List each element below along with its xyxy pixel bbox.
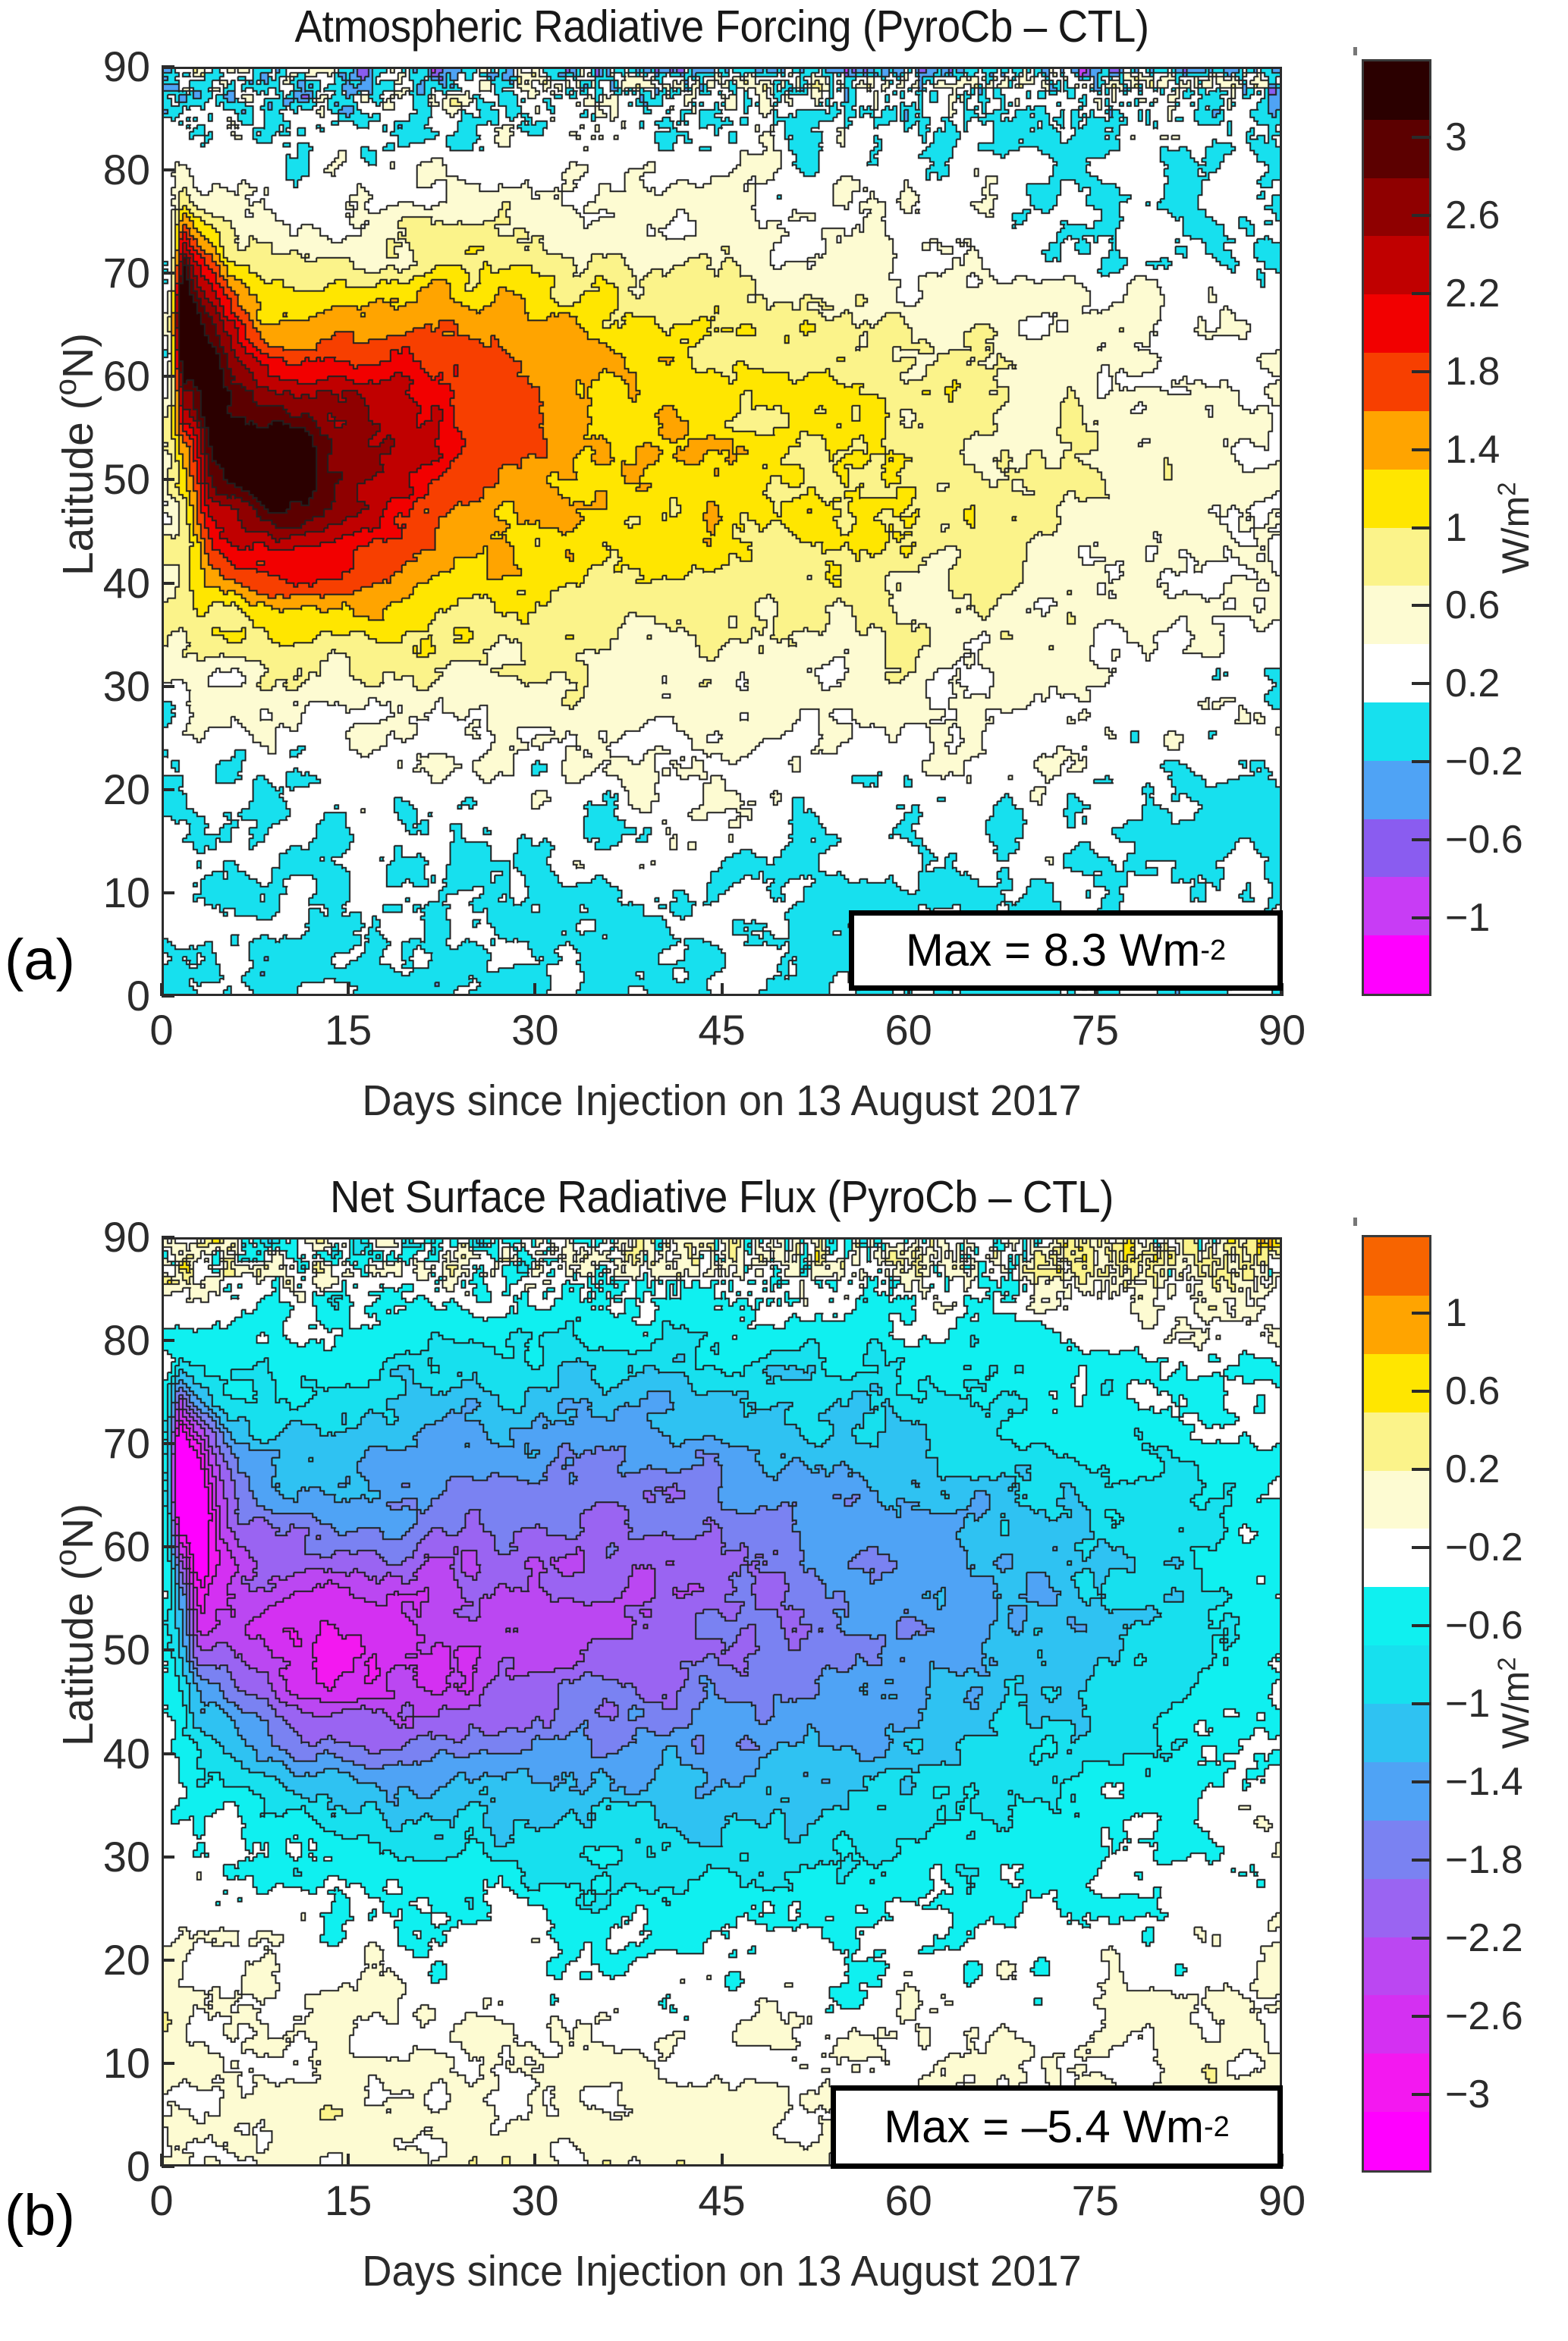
panel-b-colorbar-title: W/m2 (1496, 1589, 1535, 1817)
panel-a-colorbar-title: W/m2 (1496, 414, 1535, 642)
colorbar-tick-label: 1 (1445, 508, 1467, 548)
colorbar-segment (1364, 1645, 1429, 1704)
x-tick-label: 15 (288, 2179, 409, 2222)
y-tick-mark (162, 1442, 174, 1445)
colorbar-tick-mark (1412, 1859, 1431, 1862)
colorbar-segment (1364, 1587, 1429, 1645)
y-tick-mark (162, 478, 174, 481)
x-tick-mark (347, 2154, 350, 2167)
colorbar-segment (1364, 1471, 1429, 1529)
colorbar-segment (1364, 470, 1429, 528)
colorbar-tick-label: 2.6 (1445, 196, 1500, 235)
y-tick-mark (162, 1236, 174, 1239)
y-tick-mark (162, 1959, 174, 1962)
colorbar-segment (1364, 1529, 1429, 1587)
x-tick-mark (160, 983, 163, 996)
panel-a-field-canvas (164, 69, 1280, 994)
colorbar-segment (1364, 644, 1429, 702)
panel-a-colorbar-unit: W/m (1494, 496, 1537, 574)
colorbar-tick-label: 1.8 (1445, 352, 1500, 391)
colorbar-segment (1364, 1354, 1429, 1412)
colorbar-tick-label: 0.2 (1445, 664, 1500, 703)
colorbar-segment (1364, 935, 1429, 994)
y-tick-mark (162, 1648, 174, 1651)
panel-a-ylabel: Latitude (oN) (42, 219, 102, 690)
colorbar-tick-mark (1412, 1546, 1431, 1549)
x-tick-mark (347, 983, 350, 996)
colorbar-tick-mark (1412, 1937, 1431, 1940)
y-tick-mark (162, 1752, 174, 1755)
colorbar-tick-label: −0.6 (1445, 820, 1523, 859)
colorbar-tick-label: 0.6 (1445, 1372, 1500, 1411)
x-tick-label: 60 (848, 2179, 969, 2222)
colorbar-tick-mark (1412, 604, 1431, 607)
panel-b-field-canvas (164, 1240, 1280, 2164)
y-tick-mark (162, 891, 174, 894)
x-tick-label: 45 (661, 1009, 783, 1051)
colorbar-segment (1364, 294, 1429, 353)
y-tick-mark (162, 788, 174, 791)
panel-a-corner-marker (1353, 47, 1357, 55)
colorbar-segment (1364, 353, 1429, 411)
panel-a-max-annotation: Max = 8.3 Wm-2 (849, 910, 1283, 991)
colorbar-tick-mark (1412, 1312, 1431, 1315)
x-tick-mark (721, 2154, 724, 2167)
colorbar-tick-mark (1412, 1468, 1431, 1471)
x-tick-label: 30 (474, 1009, 595, 1051)
colorbar-tick-mark (1412, 1390, 1431, 1393)
y-tick-label: 80 (36, 1319, 150, 1362)
colorbar-tick-mark (1412, 1780, 1431, 1783)
y-tick-label: 90 (36, 46, 150, 88)
x-tick-mark (533, 2154, 536, 2167)
y-tick-mark (162, 65, 174, 68)
y-tick-label: 10 (36, 872, 150, 914)
colorbar-tick-mark (1412, 1702, 1431, 1705)
y-tick-label: 20 (36, 768, 150, 811)
panel-a-title: Atmospheric Radiative Forcing (PyroCb – … (201, 2, 1243, 52)
panel-a-max-text: Max = 8.3 Wm (906, 928, 1200, 973)
colorbar-tick-label: −0.2 (1445, 1528, 1523, 1567)
panel-a: Atmospheric Radiative Forcing (PyroCb – … (0, 0, 1568, 1170)
colorbar-tick-mark (1412, 916, 1431, 919)
colorbar-segment (1364, 1762, 1429, 1821)
x-tick-mark (160, 2154, 163, 2167)
colorbar-tick-mark (1412, 214, 1431, 217)
colorbar-tick-label: −3 (1445, 2075, 1490, 2114)
colorbar-segment (1364, 178, 1429, 237)
colorbar-segment (1364, 1704, 1429, 1762)
x-tick-label: 90 (1221, 1009, 1343, 1051)
y-tick-label: 90 (36, 1216, 150, 1258)
x-tick-label: 0 (101, 2179, 222, 2222)
colorbar-tick-mark (1412, 136, 1431, 139)
colorbar-segment (1364, 1995, 1429, 2053)
colorbar-segment (1364, 411, 1429, 470)
x-tick-mark (721, 983, 724, 996)
x-tick-label: 90 (1221, 2179, 1343, 2222)
y-tick-mark (162, 1545, 174, 1548)
colorbar-tick-label: −2.6 (1445, 1997, 1523, 2036)
panel-b-title: Net Surface Radiative Flux (PyroCb – CTL… (201, 1172, 1243, 1222)
colorbar-segment (1364, 586, 1429, 644)
x-tick-label: 15 (288, 1009, 409, 1051)
panel-a-ylabel-text: Latitude (oN) (54, 333, 102, 576)
y-tick-mark (162, 995, 174, 998)
colorbar-tick-mark (1412, 2093, 1431, 2096)
colorbar-segment (1364, 528, 1429, 586)
panel-b-max-annotation: Max = –5.4 Wm-2 (831, 2085, 1283, 2169)
colorbar-segment (1364, 819, 1429, 878)
colorbar-tick-mark (1412, 2015, 1431, 2018)
colorbar-segment (1364, 61, 1429, 120)
colorbar-tick-mark (1412, 838, 1431, 841)
colorbar-tick-mark (1412, 760, 1431, 763)
colorbar-tick-mark (1412, 526, 1431, 529)
y-tick-mark (162, 1339, 174, 1342)
y-tick-mark (162, 2062, 174, 2065)
x-tick-label: 0 (101, 1009, 222, 1051)
colorbar-tick-label: 3 (1445, 118, 1467, 157)
x-tick-mark (533, 983, 536, 996)
colorbar-tick-label: 0.2 (1445, 1450, 1500, 1489)
colorbar-tick-label: −0.2 (1445, 742, 1523, 781)
colorbar-tick-mark (1412, 1624, 1431, 1627)
colorbar-segment (1364, 1879, 1429, 1937)
colorbar-segment (1364, 702, 1429, 761)
y-tick-label: 20 (36, 1939, 150, 1981)
colorbar-tick-label: −1.8 (1445, 1840, 1523, 1880)
figure-root: Atmospheric Radiative Forcing (PyroCb – … (0, 0, 1568, 2341)
colorbar-segment (1364, 1296, 1429, 1354)
y-tick-mark (162, 2165, 174, 2168)
colorbar-segment (1364, 1821, 1429, 1879)
panel-b: Net Surface Radiative Flux (PyroCb – CTL… (0, 1170, 1568, 2341)
colorbar-tick-label: 1.4 (1445, 430, 1500, 470)
x-tick-label: 30 (474, 2179, 595, 2222)
colorbar-segment (1364, 877, 1429, 935)
x-tick-label: 75 (1035, 1009, 1156, 1051)
x-tick-label: 60 (848, 1009, 969, 1051)
panel-b-plot-area (162, 1237, 1282, 2167)
y-tick-mark (162, 685, 174, 688)
y-tick-mark (162, 582, 174, 585)
panel-a-plot-area (162, 67, 1282, 996)
colorbar-tick-label: 1 (1445, 1293, 1467, 1333)
colorbar-tick-label: 2.2 (1445, 274, 1500, 313)
panel-b-max-text: Max = –5.4 Wm (884, 2104, 1204, 2150)
colorbar-segment (1364, 1937, 1429, 1996)
panel-a-colorbar-unit-exponent: 2 (1492, 482, 1520, 495)
colorbar-tick-label: 0.6 (1445, 586, 1500, 625)
colorbar-segment (1364, 1237, 1429, 1296)
panel-b-letter: (b) (5, 2187, 75, 2245)
y-tick-label: 80 (36, 149, 150, 191)
colorbar-segment (1364, 761, 1429, 819)
colorbar-tick-mark (1412, 448, 1431, 451)
y-tick-mark (162, 375, 174, 378)
colorbar-segment (1364, 1412, 1429, 1471)
panel-b-corner-marker (1353, 1218, 1357, 1226)
colorbar-tick-mark (1412, 370, 1431, 373)
y-tick-mark (162, 168, 174, 171)
panel-b-ylabel-text: Latitude (oN) (54, 1504, 102, 1746)
colorbar-segment (1364, 120, 1429, 178)
panel-b-xlabel: Days since Injection on 13 August 2017 (190, 2248, 1254, 2295)
panel-a-xlabel: Days since Injection on 13 August 2017 (190, 1077, 1254, 1124)
panel-b-colorbar-unit: W/m (1494, 1671, 1537, 1749)
panel-b-colorbar-unit-exponent: 2 (1492, 1657, 1520, 1670)
colorbar-tick-mark (1412, 292, 1431, 295)
colorbar-segment (1364, 2112, 1429, 2170)
y-tick-mark (162, 1856, 174, 1859)
colorbar-tick-mark (1412, 682, 1431, 685)
colorbar-tick-label: −1 (1445, 898, 1490, 938)
colorbar-segment (1364, 2053, 1429, 2112)
colorbar-tick-label: −1 (1445, 1684, 1490, 1724)
panel-b-ylabel: Latitude (oN) (42, 1390, 102, 1860)
x-tick-label: 45 (661, 2179, 783, 2222)
y-tick-mark (162, 272, 174, 275)
y-tick-label: 10 (36, 2042, 150, 2085)
colorbar-tick-label: −2.2 (1445, 1918, 1523, 1958)
colorbar-segment (1364, 236, 1429, 294)
x-tick-label: 75 (1035, 2179, 1156, 2222)
